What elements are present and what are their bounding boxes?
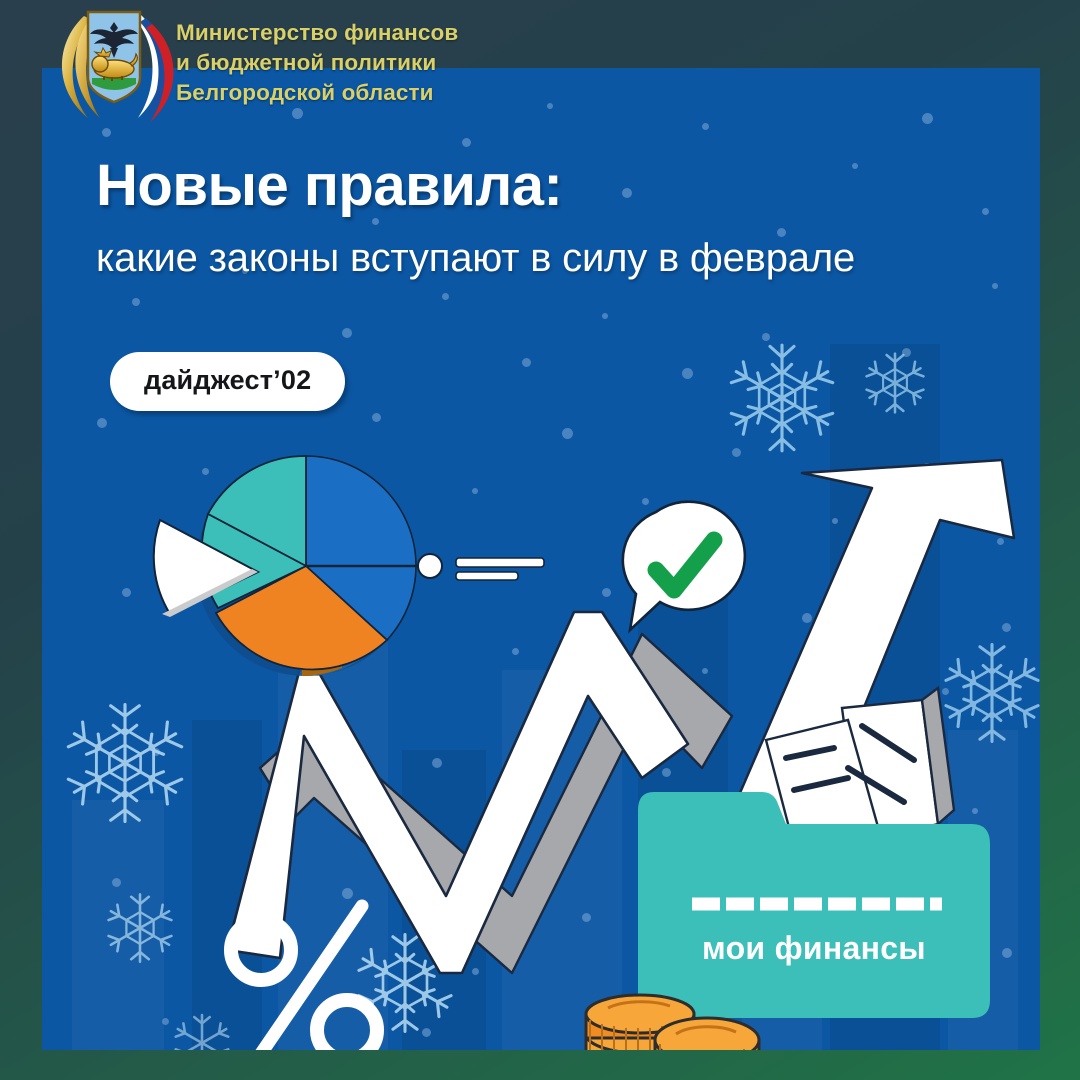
organization-name: Министерство финансов и бюджетной полити… xyxy=(176,18,596,108)
pie-slice-blue xyxy=(306,456,416,566)
org-line-1: Министерство финансов xyxy=(176,18,596,48)
folder-label-wrap: мои финансы xyxy=(638,930,990,976)
org-line-2: и бюджетной политики xyxy=(176,48,596,78)
digest-badge[interactable]: дайджест’02 xyxy=(110,352,345,411)
digest-badge-label: дайджест’02 xyxy=(144,365,311,395)
folder-label: мои финансы xyxy=(638,930,990,967)
poster-canvas: мои финансы Новые правила: какие законы … xyxy=(0,0,1080,1080)
page-title: Новые правила: xyxy=(96,152,562,219)
ministry-logo xyxy=(48,6,176,124)
approved-check-bubble xyxy=(623,502,745,630)
pie-pointer-dot xyxy=(418,554,442,578)
pie-legend-line-2 xyxy=(456,572,518,580)
pie-legend-line-1 xyxy=(456,558,544,567)
pie-chart xyxy=(154,456,544,676)
poster-body: мои финансы Новые правила: какие законы … xyxy=(42,68,1040,1050)
org-line-3: Белгородской области xyxy=(176,78,596,108)
percent-symbol xyxy=(231,906,377,1050)
page-subtitle: какие законы вступают в силу в феврале xyxy=(96,236,855,281)
